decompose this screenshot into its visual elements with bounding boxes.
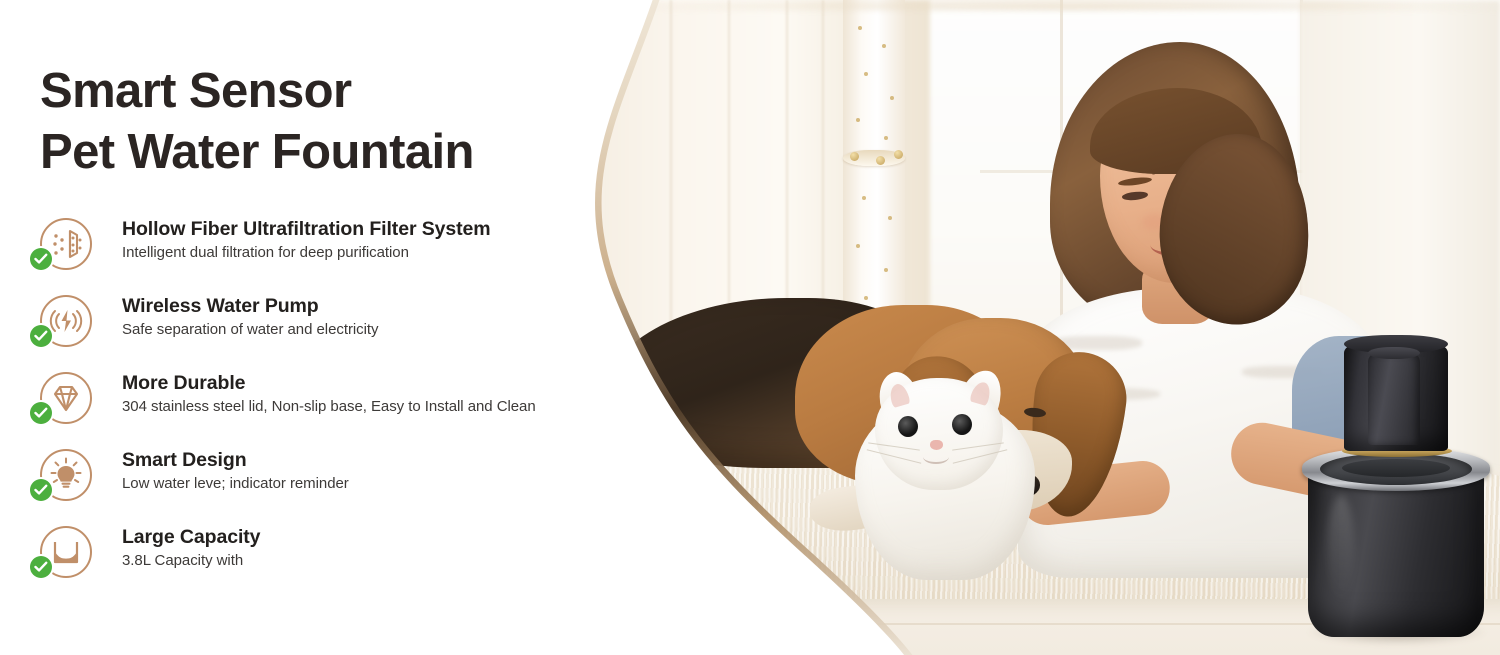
- feature-text: Wireless Water Pump Safe separation of w…: [122, 293, 642, 341]
- feature-subtitle: Intelligent dual filtration for deep pur…: [122, 242, 642, 264]
- feature-text: Hollow Fiber Ultrafiltration Filter Syst…: [122, 216, 642, 264]
- feature-list: Hollow Fiber Ultrafiltration Filter Syst…: [30, 218, 610, 603]
- check-icon: [34, 484, 48, 496]
- check-badge: [30, 479, 52, 501]
- feature-title: Large Capacity: [122, 524, 642, 550]
- feature-title: More Durable: [122, 370, 642, 396]
- feature-text: More Durable 304 stainless steel lid, No…: [122, 370, 642, 418]
- feature-subtitle: Safe separation of water and electricity: [122, 319, 642, 341]
- check-icon: [34, 330, 48, 342]
- product-render: [1302, 313, 1492, 643]
- headline-line-2: Pet Water Fountain: [40, 122, 580, 183]
- feature-title: Wireless Water Pump: [122, 293, 642, 319]
- feature-text: Smart Design Low water leve; indicator r…: [122, 447, 642, 495]
- feature-icon-wrapper: [30, 526, 86, 582]
- feature-icon-wrapper: [30, 218, 86, 274]
- feature-title: Hollow Fiber Ultrafiltration Filter Syst…: [122, 216, 642, 242]
- check-icon: [34, 253, 48, 265]
- feature-icon-wrapper: [30, 372, 86, 428]
- feature-text: Large Capacity 3.8L Capacity with: [122, 524, 642, 572]
- feature-item-filter: Hollow Fiber Ultrafiltration Filter Syst…: [30, 218, 610, 295]
- feature-item-durable: More Durable 304 stainless steel lid, No…: [30, 372, 610, 449]
- product-feature-banner: Smart Sensor Pet Water Fountain: [0, 0, 1500, 655]
- check-badge: [30, 248, 52, 270]
- feature-subtitle: Low water leve; indicator reminder: [122, 473, 642, 495]
- feature-icon-wrapper: [30, 295, 86, 351]
- feature-subtitle: 3.8L Capacity with: [122, 550, 642, 572]
- lifestyle-photo: [600, 0, 1500, 655]
- check-icon: [34, 561, 48, 573]
- feature-subtitle: 304 stainless steel lid, Non-slip base, …: [122, 396, 642, 418]
- check-badge: [30, 556, 52, 578]
- check-badge: [30, 402, 52, 424]
- page-title: Smart Sensor Pet Water Fountain: [40, 61, 580, 183]
- check-icon: [34, 407, 48, 419]
- feature-item-smart-design: Smart Design Low water leve; indicator r…: [30, 449, 610, 526]
- feature-item-wireless-pump: Wireless Water Pump Safe separation of w…: [30, 295, 610, 372]
- headline-line-1: Smart Sensor: [40, 64, 351, 118]
- feature-icon-wrapper: [30, 449, 86, 505]
- feature-title: Smart Design: [122, 447, 642, 473]
- feature-item-capacity: Large Capacity 3.8L Capacity with: [30, 526, 610, 603]
- left-content-panel: Smart Sensor Pet Water Fountain: [0, 0, 600, 655]
- check-badge: [30, 325, 52, 347]
